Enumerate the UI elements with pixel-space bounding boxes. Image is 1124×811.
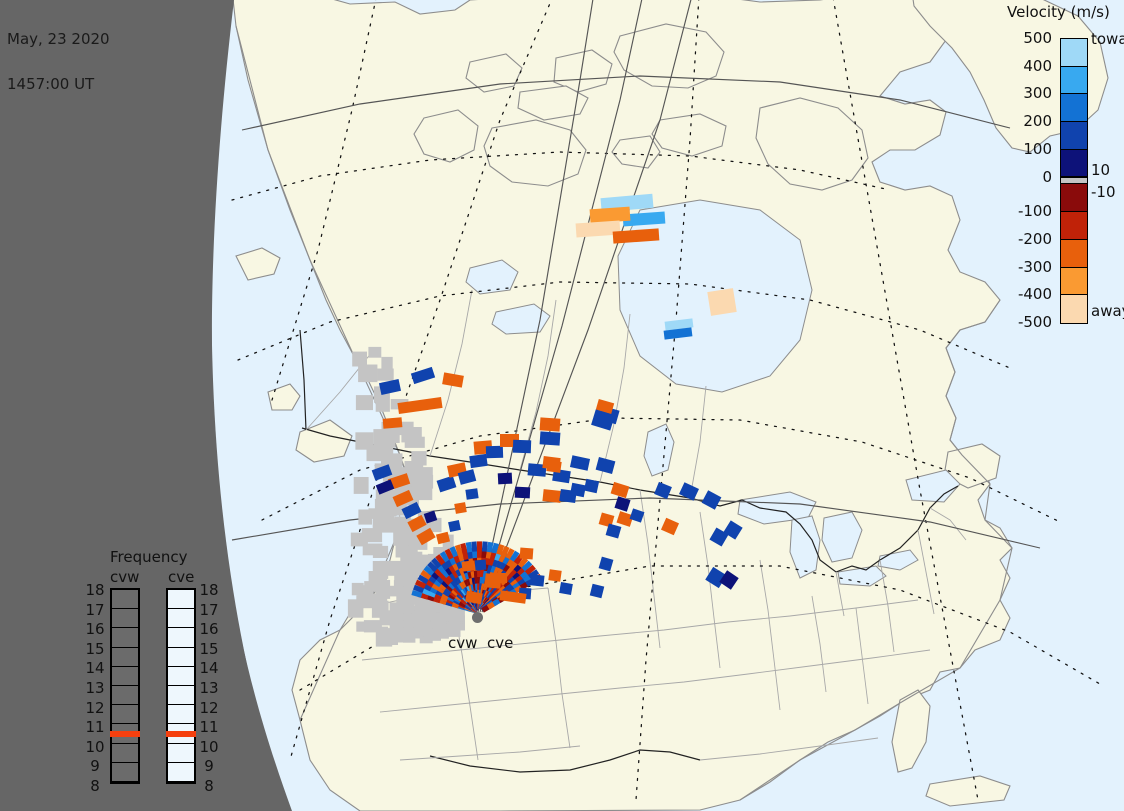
frequency-tick-cvw-14: 14 bbox=[84, 659, 106, 679]
ground-scatter-cell bbox=[362, 528, 382, 542]
ground-scatter-cell bbox=[368, 347, 381, 358]
ground-scatter-cell bbox=[380, 561, 401, 576]
ground-scatter-cell bbox=[417, 467, 432, 480]
frequency-segment-cve-0 bbox=[168, 590, 194, 609]
frequency-legend: Frequency cvw cve 18171615141312111098 1… bbox=[88, 548, 248, 788]
velocity-zero-lower-label: -10 bbox=[1091, 183, 1116, 201]
frequency-tick-cve-10: 10 bbox=[198, 738, 220, 758]
frequency-tick-cve-13: 13 bbox=[198, 679, 220, 699]
radar-cell bbox=[590, 207, 631, 224]
velocity-tick--400: -400 bbox=[1018, 285, 1052, 303]
radar-cell bbox=[477, 541, 482, 551]
frequency-tick-cvw-11: 11 bbox=[84, 718, 106, 738]
velocity-tick--100: -100 bbox=[1018, 202, 1052, 220]
frequency-radar-name-cve: cve bbox=[168, 568, 194, 586]
radar-cell bbox=[542, 489, 561, 503]
ground-scatter-cell bbox=[352, 583, 364, 595]
velocity-band-1 bbox=[1061, 67, 1087, 95]
ground-scatter-cell bbox=[381, 357, 392, 373]
radar-cell bbox=[559, 582, 573, 595]
velocity-band-8 bbox=[1061, 240, 1087, 268]
frequency-segment-cve-5 bbox=[168, 686, 194, 705]
radar-cell bbox=[482, 541, 488, 551]
frequency-segment-cvw-0 bbox=[112, 590, 138, 609]
radar-cell bbox=[462, 560, 476, 571]
velocity-tick-300: 300 bbox=[1023, 84, 1052, 102]
radar-cell bbox=[707, 288, 736, 316]
frequency-tick-cve-17: 17 bbox=[198, 601, 220, 621]
radar-cell bbox=[530, 574, 544, 586]
radar-cell bbox=[454, 502, 467, 514]
velocity-tick-200: 200 bbox=[1023, 112, 1052, 130]
frequency-legend-title: Frequency bbox=[110, 548, 188, 566]
velocity-away-label: away bbox=[1091, 302, 1124, 320]
frequency-radar-name-cvw: cvw bbox=[110, 568, 139, 586]
frequency-tick-cvw-16: 16 bbox=[84, 620, 106, 640]
velocity-tick-100: 100 bbox=[1023, 140, 1052, 158]
velocity-band-2 bbox=[1061, 94, 1087, 122]
radar-cell bbox=[520, 548, 534, 560]
ground-scatter-cell bbox=[355, 432, 373, 449]
frequency-tick-cve-16: 16 bbox=[198, 620, 220, 640]
ground-scatter-cell bbox=[354, 477, 369, 494]
velocity-tick--300: -300 bbox=[1018, 258, 1052, 276]
velocity-band-0 bbox=[1061, 39, 1087, 67]
site-label-cvw: cvw bbox=[448, 634, 477, 652]
frequency-tick-cve-15: 15 bbox=[198, 640, 220, 660]
ground-scatter-cell bbox=[411, 451, 426, 465]
radar-cell bbox=[513, 440, 531, 454]
radar-cell bbox=[540, 417, 561, 431]
frequency-tick-cvw-12: 12 bbox=[84, 699, 106, 719]
radar-cell bbox=[515, 487, 531, 499]
frequency-segment-cvw-9 bbox=[112, 763, 138, 782]
frequency-tick-cvw-18: 18 bbox=[84, 581, 106, 601]
velocity-tick-0: 0 bbox=[1042, 168, 1052, 186]
ground-scatter-cell bbox=[358, 365, 377, 383]
site-label-cve: cve bbox=[487, 634, 513, 652]
velocity-legend-title: Velocity (m/s) bbox=[1007, 3, 1124, 21]
frequency-tick-cvw-9: 9 bbox=[84, 757, 106, 777]
radar-cell bbox=[548, 569, 561, 582]
radar-cell bbox=[465, 488, 478, 500]
velocity-band-4 bbox=[1061, 150, 1087, 178]
frequency-tick-cve-18: 18 bbox=[198, 581, 220, 601]
frequency-segment-cve-6 bbox=[168, 705, 194, 724]
map-body bbox=[150, 0, 1124, 811]
frequency-segment-cve-9 bbox=[168, 763, 194, 782]
velocity-band-6 bbox=[1061, 184, 1087, 212]
frequency-marker-cve bbox=[166, 731, 196, 737]
frequency-tick-cve-14: 14 bbox=[198, 659, 220, 679]
frequency-tick-cve-9: 9 bbox=[198, 757, 220, 777]
frequency-tick-cve-12: 12 bbox=[198, 699, 220, 719]
frequency-tick-cvw-15: 15 bbox=[84, 640, 106, 660]
frequency-tick-cvw-13: 13 bbox=[84, 679, 106, 699]
frequency-scale-cvw[interactable] bbox=[110, 588, 140, 784]
velocity-band-5 bbox=[1061, 177, 1087, 184]
frequency-segment-cvw-6 bbox=[112, 705, 138, 724]
ground-scatter-cell bbox=[352, 352, 367, 367]
frequency-segment-cvw-4 bbox=[112, 667, 138, 686]
ground-scatter-cell bbox=[356, 622, 373, 632]
ground-scatter-cell bbox=[356, 395, 373, 410]
frequency-ticks-cvw: 18171615141312111098 bbox=[84, 581, 106, 797]
frequency-segment-cvw-3 bbox=[112, 648, 138, 667]
velocity-band-3 bbox=[1061, 122, 1087, 150]
frequency-segment-cvw-8 bbox=[112, 744, 138, 763]
velocity-tick-500: 500 bbox=[1023, 29, 1052, 47]
radar-cell bbox=[475, 560, 487, 571]
velocity-zero-upper-label: 10 bbox=[1091, 161, 1110, 179]
ground-scatter-cell bbox=[381, 447, 393, 464]
velocity-colorbar[interactable] bbox=[1060, 38, 1088, 324]
radar-site-marker[interactable] bbox=[472, 612, 483, 623]
frequency-scale-cve[interactable] bbox=[166, 588, 196, 784]
superdarn-fan-plot: May, 23 2020 1457:00 UT Velocity (m/s) 5… bbox=[0, 0, 1124, 811]
frequency-tick-cve-11: 11 bbox=[198, 718, 220, 738]
radar-cell bbox=[498, 473, 513, 485]
velocity-band-9 bbox=[1061, 268, 1087, 296]
velocity-toward-label: toward bbox=[1091, 30, 1124, 48]
frequency-marker-cvw bbox=[110, 731, 140, 737]
frequency-segment-cvw-2 bbox=[112, 628, 138, 647]
velocity-tick--200: -200 bbox=[1018, 230, 1052, 248]
timestamp-time: 1457:00 UT bbox=[7, 77, 110, 92]
frequency-segment-cve-3 bbox=[168, 648, 194, 667]
velocity-band-7 bbox=[1061, 212, 1087, 240]
velocity-band-10 bbox=[1061, 295, 1087, 323]
frequency-tick-cvw-17: 17 bbox=[84, 601, 106, 621]
frequency-segment-cve-1 bbox=[168, 609, 194, 628]
frequency-segment-cve-2 bbox=[168, 628, 194, 647]
frequency-segment-cvw-5 bbox=[112, 686, 138, 705]
velocity-tick-400: 400 bbox=[1023, 57, 1052, 75]
radar-cell bbox=[471, 541, 477, 551]
frequency-ticks-cve: 18171615141312111098 bbox=[198, 581, 220, 797]
frequency-segment-cve-8 bbox=[168, 744, 194, 763]
velocity-legend: Velocity (m/s) 5004003002001000-100-200-… bbox=[1007, 2, 1124, 332]
radar-cell bbox=[486, 446, 503, 459]
radar-cell bbox=[546, 460, 561, 473]
timestamp-date: May, 23 2020 bbox=[7, 32, 110, 47]
radar-cell bbox=[383, 417, 403, 429]
frequency-tick-cve-8: 8 bbox=[198, 777, 220, 797]
frequency-segment-cvw-1 bbox=[112, 609, 138, 628]
radar-cell bbox=[484, 573, 501, 589]
frequency-tick-cvw-8: 8 bbox=[84, 777, 106, 797]
velocity-tick--500: -500 bbox=[1018, 313, 1052, 331]
frequency-tick-cvw-10: 10 bbox=[84, 738, 106, 758]
timestamp-block: May, 23 2020 1457:00 UT bbox=[7, 2, 110, 122]
radar-cell bbox=[469, 454, 488, 468]
frequency-segment-cve-4 bbox=[168, 667, 194, 686]
radar-cell bbox=[540, 431, 561, 445]
